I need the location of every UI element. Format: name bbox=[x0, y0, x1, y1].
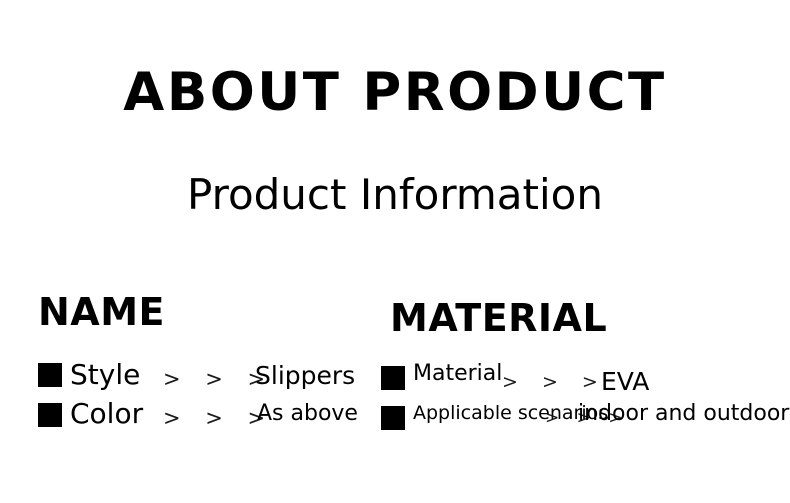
black-square-bullet-icon bbox=[38, 403, 62, 427]
section-heading-name: NAME bbox=[38, 290, 165, 334]
spec-label-style: Style bbox=[70, 358, 140, 392]
spec-label-color: Color bbox=[70, 397, 143, 431]
black-square-bullet-icon bbox=[381, 366, 405, 390]
spec-value-color: As above bbox=[257, 400, 358, 428]
spec-value-material: EVA bbox=[601, 366, 649, 397]
product-information-page: ABOUT PRODUCT Product Information NAME M… bbox=[0, 0, 790, 503]
page-subtitle: Product Information bbox=[0, 168, 790, 222]
spec-value-applicable-scenarios: indoor and outdoor bbox=[578, 400, 789, 428]
chevron-separator-icon: > > > bbox=[502, 370, 607, 394]
spec-value-style: Slippers bbox=[255, 360, 355, 391]
section-heading-material: MATERIAL bbox=[390, 296, 607, 340]
black-square-bullet-icon bbox=[381, 406, 405, 430]
page-title: ABOUT PRODUCT bbox=[0, 62, 790, 124]
spec-label-material: Material bbox=[413, 360, 502, 388]
black-square-bullet-icon bbox=[38, 363, 62, 387]
